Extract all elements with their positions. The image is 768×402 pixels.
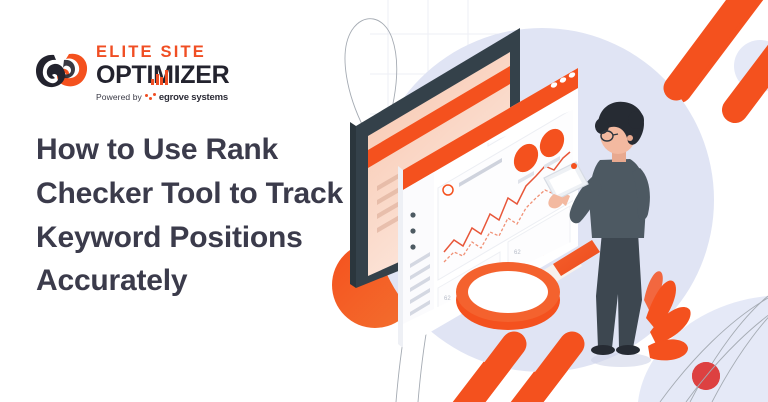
brand-line-elite-site: ELITE SITE xyxy=(96,42,261,61)
magnifier-ring xyxy=(456,262,560,330)
svg-text:62: 62 xyxy=(514,250,521,256)
brand-line-optimizer-wrap: OPTIMIZER xyxy=(96,63,261,89)
svg-text:62: 62 xyxy=(444,346,451,352)
illustration-stage: 62 62 62 xyxy=(330,0,768,402)
egrove-dots-icon xyxy=(145,93,156,102)
person-legs xyxy=(596,232,642,348)
brand-logo-text: ELITE SITE OPTIMIZER Powered by egrove s… xyxy=(96,42,261,102)
powered-by-company: egrove systems xyxy=(159,93,228,103)
blog-banner: 62 62 62 xyxy=(0,0,768,402)
powered-by-line: Powered by egrove systems xyxy=(96,93,261,103)
elite-site-optimizer-swirl-icon xyxy=(34,48,90,92)
brand-line-optimizer: OPTIMIZER xyxy=(96,63,261,88)
brand-logo[interactable]: ELITE SITE OPTIMIZER Powered by egrove s… xyxy=(34,42,264,108)
page-title: How to Use Rank Checker Tool to Track Ke… xyxy=(36,128,366,303)
person-shoe-left xyxy=(591,345,615,355)
powered-by-label: Powered by xyxy=(96,93,142,102)
bar-chart-icon xyxy=(151,68,175,85)
person-shoe-right xyxy=(616,345,640,355)
